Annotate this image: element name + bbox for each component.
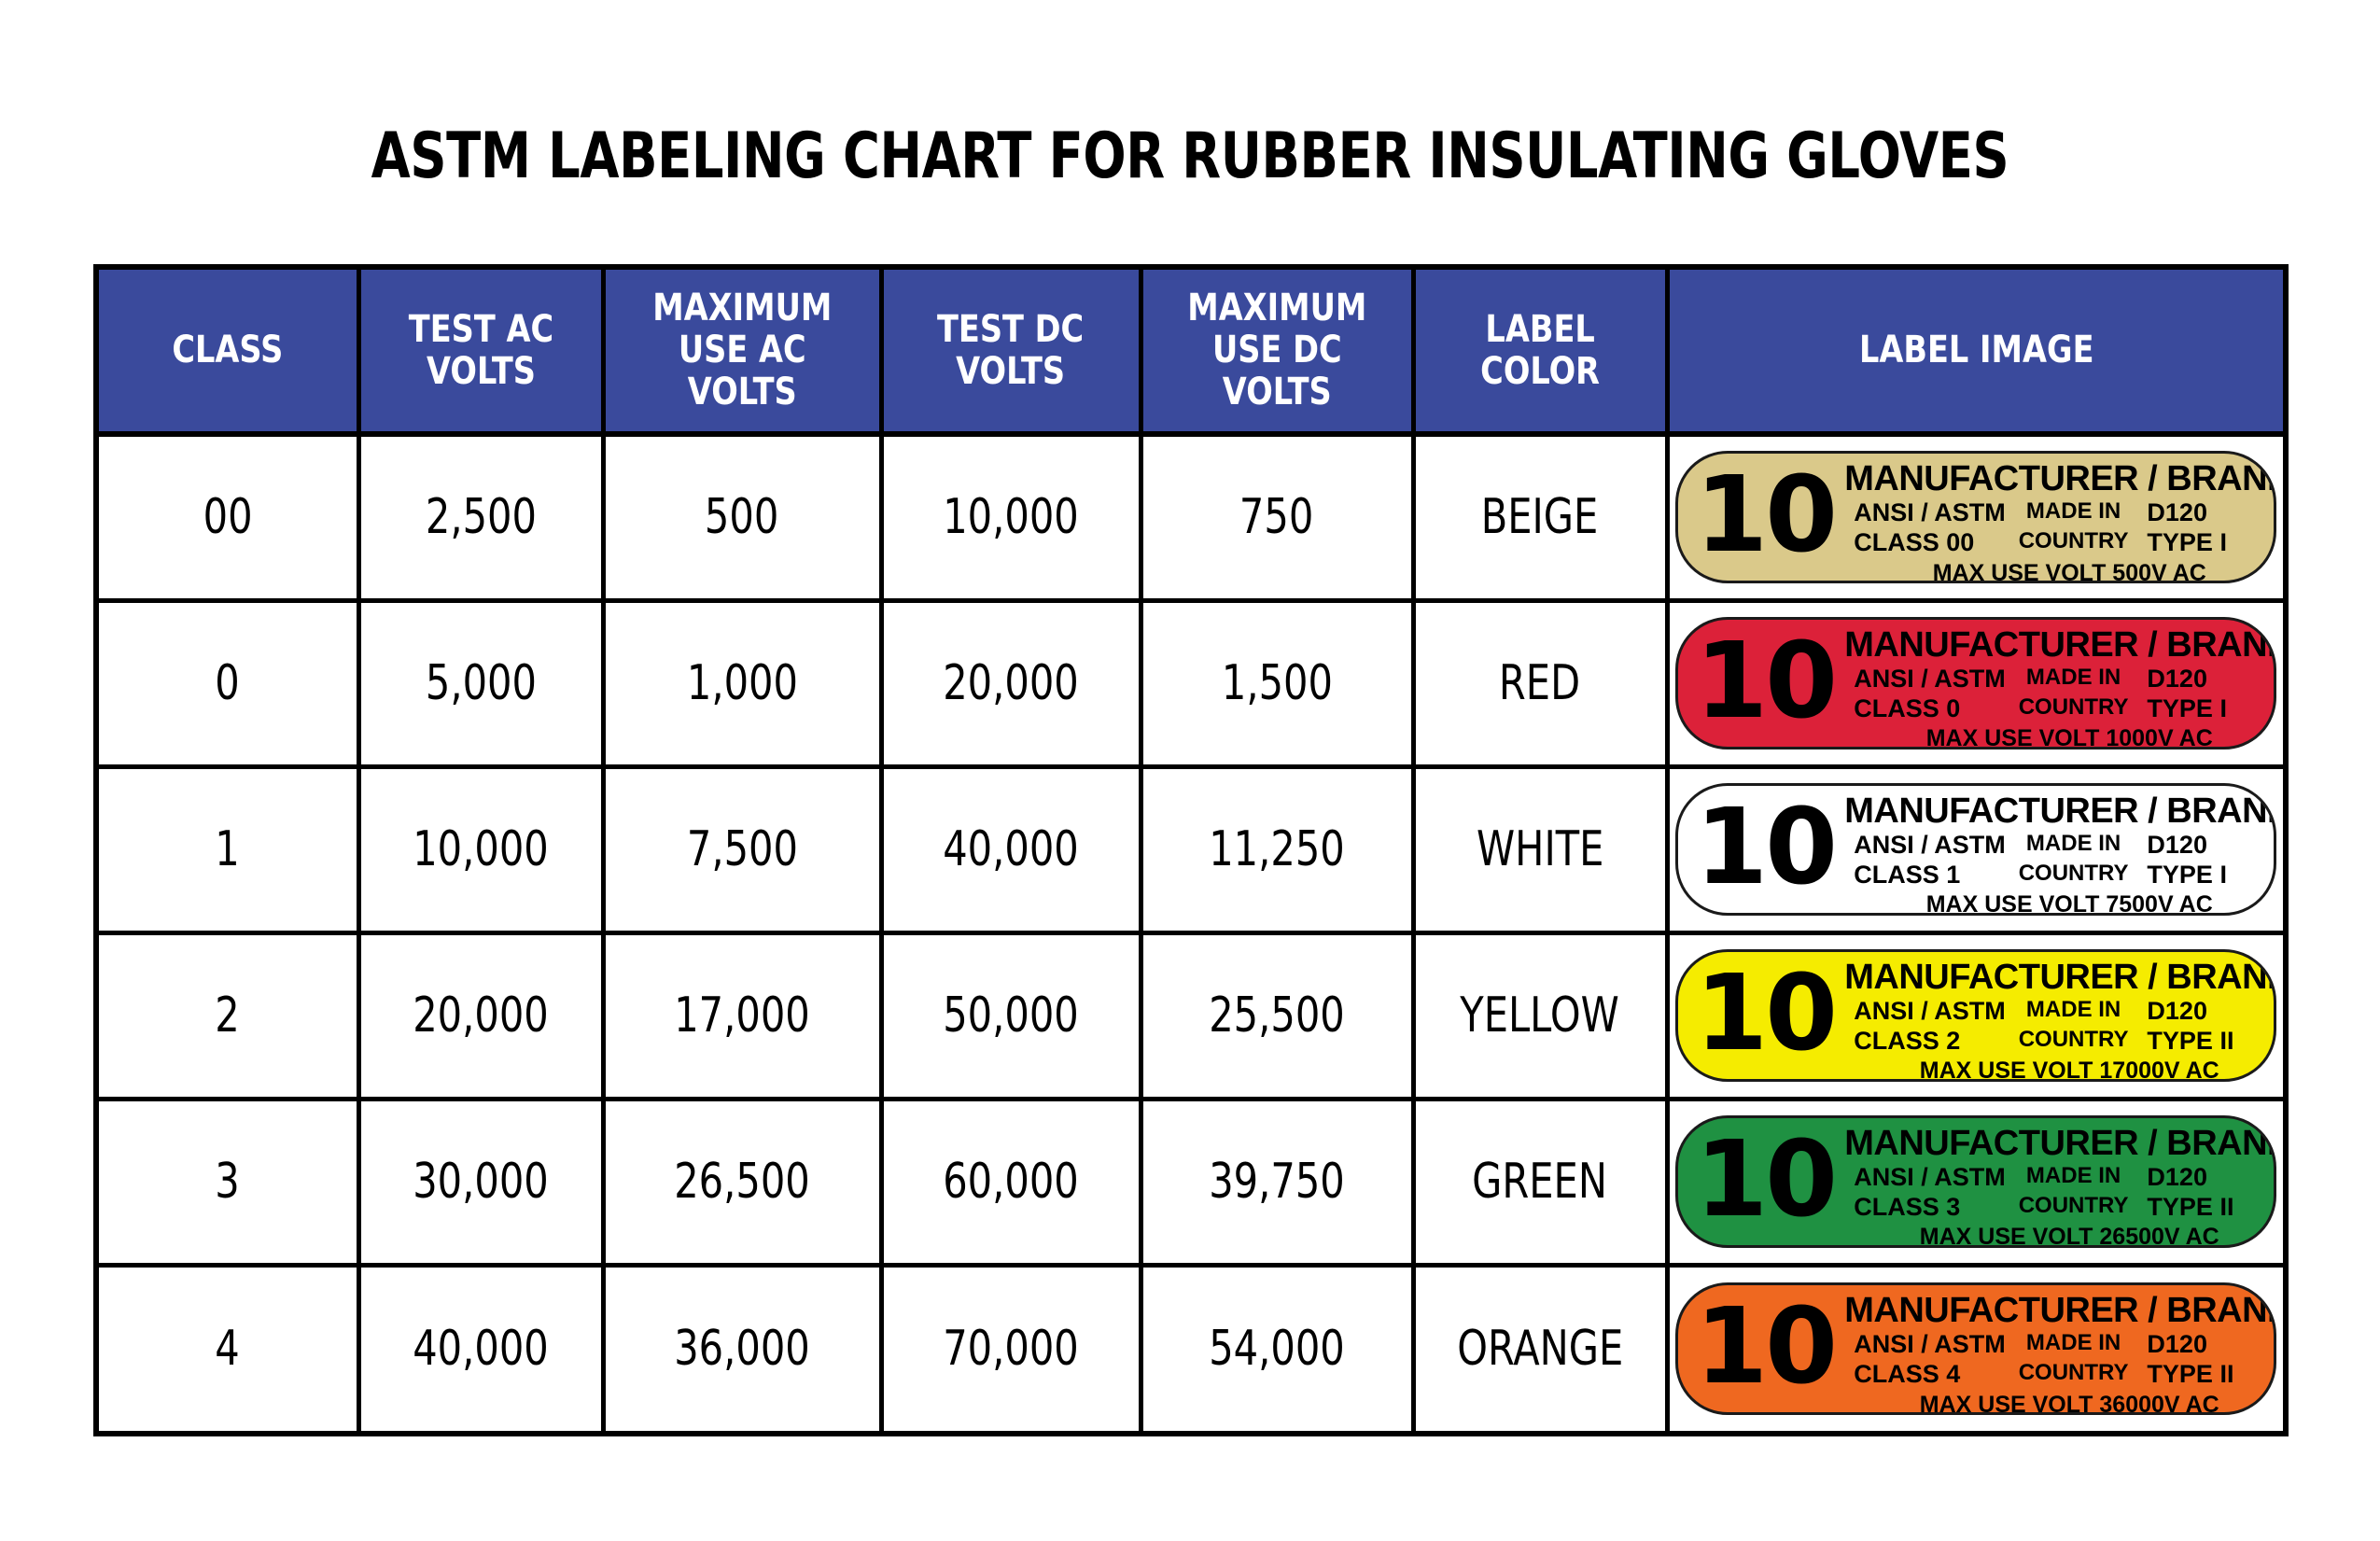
cell-value: 36,000 [674,1321,810,1377]
page-title: ASTM LABELING CHART FOR RUBBER INSULATIN… [238,119,2142,193]
cell-test_ac: 2,500 [358,434,603,600]
cell-class: 2 [99,932,358,1099]
glove-label-badge: 10MANUFACTURER / BRANDANSI / ASTMMADE IN… [1675,451,2276,583]
cell-max_ac: 7,500 [603,766,881,932]
table-row: 05,0001,00020,0001,500RED10MANUFACTURER … [99,600,2283,766]
cell-value: YELLOW [1461,988,1619,1044]
cell-label-image: 10MANUFACTURER / BRANDANSI / ASTMMADE IN… [1667,600,2283,766]
cell-max_dc: 54,000 [1141,1265,1413,1431]
table-row: 110,0007,50040,00011,250WHITE10MANUFACTU… [99,766,2283,932]
label-spec: D120 [2141,1330,2257,1360]
cell-class: 4 [99,1265,358,1431]
cell-value: 2,500 [425,489,536,545]
cell-max_ac: 17,000 [603,932,881,1099]
cell-test_dc: 60,000 [881,1099,1141,1265]
label-standard: ANSI / ASTM [1844,1163,2006,1193]
column-header-label: MAXIMUM USE DC VOLTS [1187,287,1366,413]
cell-class: 00 [99,434,358,600]
label-brand-line: MANUFACTURER / BRAND [1844,1293,2257,1329]
label-text-block: MANUFACTURER / BRANDANSI / ASTMMADE IND1… [1844,960,2257,1073]
column-header-class: CLASS [99,270,358,434]
glove-label-badge: 10MANUFACTURER / BRANDANSI / ASTMMADE IN… [1675,949,2276,1082]
cell-max_dc: 1,500 [1141,600,1413,766]
glove-label-badge: 10MANUFACTURER / BRANDANSI / ASTMMADE IN… [1675,1282,2276,1415]
cell-label-image: 10MANUFACTURER / BRANDANSI / ASTMMADE IN… [1667,1265,2283,1431]
label-brand-line: MANUFACTURER / BRAND [1844,793,2257,830]
cell-label-image: 10MANUFACTURER / BRANDANSI / ASTMMADE IN… [1667,932,2283,1099]
cell-value: 10,000 [943,489,1079,545]
cell-test_ac: 40,000 [358,1265,603,1431]
label-country: COUNTRY [2006,694,2142,724]
table-header: CLASSTEST AC VOLTSMAXIMUM USE AC VOLTSTE… [99,270,2283,434]
label-detail-grid: ANSI / ASTMMADE IND120CLASS 3COUNTRYTYPE… [1844,1163,2257,1223]
table-row: 002,50050010,000750BEIGE10MANUFACTURER /… [99,434,2283,600]
cell-max_ac: 1,000 [603,600,881,766]
cell-max_ac: 500 [603,434,881,600]
cell-color: RED [1413,600,1667,766]
astm-glove-labeling-chart-page: ASTM LABELING CHART FOR RUBBER INSULATIN… [0,0,2380,1541]
label-size-number: 10 [1695,629,1835,734]
label-country: COUNTRY [2006,528,2142,558]
label-detail-grid: ANSI / ASTMMADE IND120CLASS 0COUNTRYTYPE… [1844,665,2257,724]
label-country: COUNTRY [2006,861,2142,890]
column-header-label: LABEL COLOR [1480,309,1600,393]
astm-chart-table-container: CLASSTEST AC VOLTSMAXIMUM USE AC VOLTSTE… [93,264,2289,1436]
label-standard: ANSI / ASTM [1844,498,2006,528]
cell-value: 1,500 [1221,655,1332,711]
cell-value: 11,250 [1209,821,1345,877]
label-made-in: MADE IN [2006,1163,2142,1193]
cell-class: 1 [99,766,358,932]
cell-value: 2 [216,988,240,1044]
column-header-label: TEST DC VOLTS [937,309,1084,393]
cell-value: 20,000 [413,988,549,1044]
astm-chart-table: CLASSTEST AC VOLTSMAXIMUM USE AC VOLTSTE… [99,270,2283,1431]
cell-value: 70,000 [943,1321,1079,1377]
cell-value: 40,000 [413,1321,549,1377]
column-header-label: CLASS [172,329,283,371]
cell-max_ac: 26,500 [603,1099,881,1265]
label-type: TYPE I [2141,694,2257,724]
cell-value: 40,000 [943,821,1079,877]
cell-value: 7,500 [686,821,797,877]
label-country: COUNTRY [2006,1193,2142,1223]
label-type: TYPE II [2141,1027,2257,1057]
label-country: COUNTRY [2006,1360,2142,1390]
label-detail-grid: ANSI / ASTMMADE IND120CLASS 2COUNTRYTYPE… [1844,997,2257,1057]
label-class: CLASS 00 [1844,528,2006,558]
label-detail-grid: ANSI / ASTMMADE IND120CLASS 4COUNTRYTYPE… [1844,1330,2257,1390]
label-brand-line: MANUFACTURER / BRAND [1844,461,2257,497]
cell-class: 3 [99,1099,358,1265]
cell-value: 39,750 [1209,1154,1345,1210]
cell-value: 20,000 [943,655,1079,711]
column-header-color: LABEL COLOR [1413,270,1667,434]
cell-value: 0 [216,655,240,711]
label-text-block: MANUFACTURER / BRANDANSI / ASTMMADE IND1… [1844,627,2257,741]
column-header-max_ac: MAXIMUM USE AC VOLTS [603,270,881,434]
column-header-test_ac: TEST AC VOLTS [358,270,603,434]
label-type: TYPE II [2141,1360,2257,1390]
cell-max_ac: 36,000 [603,1265,881,1431]
cell-class: 0 [99,600,358,766]
label-spec: D120 [2141,665,2257,694]
cell-value: 60,000 [943,1154,1079,1210]
label-standard: ANSI / ASTM [1844,831,2006,861]
cell-value: 25,500 [1209,988,1345,1044]
label-brand-line: MANUFACTURER / BRAND [1844,960,2257,996]
table-row: 330,00026,50060,00039,750GREEN10MANUFACT… [99,1099,2283,1265]
cell-value: 30,000 [413,1154,549,1210]
cell-label-image: 10MANUFACTURER / BRANDANSI / ASTMMADE IN… [1667,766,2283,932]
cell-color: BEIGE [1413,434,1667,600]
label-text-block: MANUFACTURER / BRANDANSI / ASTMMADE IND1… [1844,1126,2257,1240]
label-brand-line: MANUFACTURER / BRAND [1844,627,2257,664]
column-header-label: LABEL IMAGE [1858,329,2093,371]
label-made-in: MADE IN [2006,1330,2142,1360]
cell-color: GREEN [1413,1099,1667,1265]
glove-label-badge: 10MANUFACTURER / BRANDANSI / ASTMMADE IN… [1675,783,2276,916]
glove-label-badge: 10MANUFACTURER / BRANDANSI / ASTMMADE IN… [1675,1115,2276,1248]
label-class: CLASS 0 [1844,694,2006,724]
cell-max_dc: 25,500 [1141,932,1413,1099]
table-row: 440,00036,00070,00054,000ORANGE10MANUFAC… [99,1265,2283,1431]
cell-value: 750 [1239,489,1313,545]
label-made-in: MADE IN [2006,997,2142,1027]
label-made-in: MADE IN [2006,498,2142,528]
label-class: CLASS 4 [1844,1360,2006,1390]
label-size-number: 10 [1695,463,1835,567]
cell-value: 4 [216,1321,240,1377]
cell-max_dc: 39,750 [1141,1099,1413,1265]
table-row: 220,00017,00050,00025,500YELLOW10MANUFAC… [99,932,2283,1099]
cell-test_dc: 40,000 [881,766,1141,932]
label-max-use-voltage: MAX USE VOLT 7500V AC [1844,892,2257,916]
label-size-number: 10 [1695,961,1835,1066]
label-spec: D120 [2141,1163,2257,1193]
cell-test_ac: 20,000 [358,932,603,1099]
cell-value: 26,500 [674,1154,810,1210]
cell-value: 5,000 [425,655,536,711]
label-made-in: MADE IN [2006,665,2142,694]
label-max-use-voltage: MAX USE VOLT 1000V AC [1844,726,2257,749]
cell-value: 50,000 [943,988,1079,1044]
cell-test_ac: 5,000 [358,600,603,766]
column-header-image: LABEL IMAGE [1667,270,2283,434]
label-standard: ANSI / ASTM [1844,665,2006,694]
column-header-max_dc: MAXIMUM USE DC VOLTS [1141,270,1413,434]
cell-value: BEIGE [1481,489,1599,545]
column-header-test_dc: TEST DC VOLTS [881,270,1141,434]
cell-value: RED [1499,655,1580,711]
cell-test_ac: 30,000 [358,1099,603,1265]
label-class: CLASS 1 [1844,861,2006,890]
cell-value: 1 [216,821,240,877]
label-type: TYPE I [2141,528,2257,558]
label-size-number: 10 [1695,1128,1835,1232]
cell-value: 00 [203,489,252,545]
cell-test_dc: 20,000 [881,600,1141,766]
table-header-row: CLASSTEST AC VOLTSMAXIMUM USE AC VOLTSTE… [99,270,2283,434]
label-type: TYPE I [2141,861,2257,890]
cell-test_dc: 50,000 [881,932,1141,1099]
label-country: COUNTRY [2006,1027,2142,1057]
label-made-in: MADE IN [2006,831,2142,861]
cell-test_dc: 70,000 [881,1265,1141,1431]
label-text-block: MANUFACTURER / BRANDANSI / ASTMMADE IND1… [1844,461,2257,575]
cell-value: ORANGE [1457,1321,1623,1377]
cell-color: WHITE [1413,766,1667,932]
cell-value: 3 [216,1154,240,1210]
cell-value: 500 [705,489,778,545]
label-size-number: 10 [1695,795,1835,900]
cell-label-image: 10MANUFACTURER / BRANDANSI / ASTMMADE IN… [1667,1099,2283,1265]
cell-test_dc: 10,000 [881,434,1141,600]
label-brand-line: MANUFACTURER / BRAND [1844,1126,2257,1162]
label-text-block: MANUFACTURER / BRANDANSI / ASTMMADE IND1… [1844,1293,2257,1407]
label-spec: D120 [2141,498,2257,528]
cell-max_dc: 750 [1141,434,1413,600]
cell-value: 10,000 [413,821,549,877]
cell-max_dc: 11,250 [1141,766,1413,932]
label-text-block: MANUFACTURER / BRANDANSI / ASTMMADE IND1… [1844,793,2257,907]
label-standard: ANSI / ASTM [1844,1330,2006,1360]
column-header-label: MAXIMUM USE AC VOLTS [652,287,832,413]
cell-value: 1,000 [686,655,797,711]
label-spec: D120 [2141,831,2257,861]
label-type: TYPE II [2141,1193,2257,1223]
cell-label-image: 10MANUFACTURER / BRANDANSI / ASTMMADE IN… [1667,434,2283,600]
cell-value: 54,000 [1209,1321,1345,1377]
label-max-use-voltage: MAX USE VOLT 500V AC [1844,561,2257,584]
label-max-use-voltage: MAX USE VOLT 26500V AC [1844,1225,2257,1248]
cell-color: ORANGE [1413,1265,1667,1431]
label-class: CLASS 3 [1844,1193,2006,1223]
cell-test_ac: 10,000 [358,766,603,932]
label-standard: ANSI / ASTM [1844,997,2006,1027]
label-size-number: 10 [1695,1295,1835,1399]
label-spec: D120 [2141,997,2257,1027]
label-max-use-voltage: MAX USE VOLT 17000V AC [1844,1058,2257,1082]
label-detail-grid: ANSI / ASTMMADE IND120CLASS 00COUNTRYTYP… [1844,498,2257,558]
label-detail-grid: ANSI / ASTMMADE IND120CLASS 1COUNTRYTYPE… [1844,831,2257,890]
cell-value: GREEN [1473,1154,1608,1210]
label-class: CLASS 2 [1844,1027,2006,1057]
table-body: 002,50050010,000750BEIGE10MANUFACTURER /… [99,434,2283,1431]
cell-value: WHITE [1477,821,1603,877]
cell-color: YELLOW [1413,932,1667,1099]
cell-value: 17,000 [674,988,810,1044]
column-header-label: TEST AC VOLTS [408,309,553,393]
label-max-use-voltage: MAX USE VOLT 36000V AC [1844,1393,2257,1416]
glove-label-badge: 10MANUFACTURER / BRANDANSI / ASTMMADE IN… [1675,617,2276,749]
